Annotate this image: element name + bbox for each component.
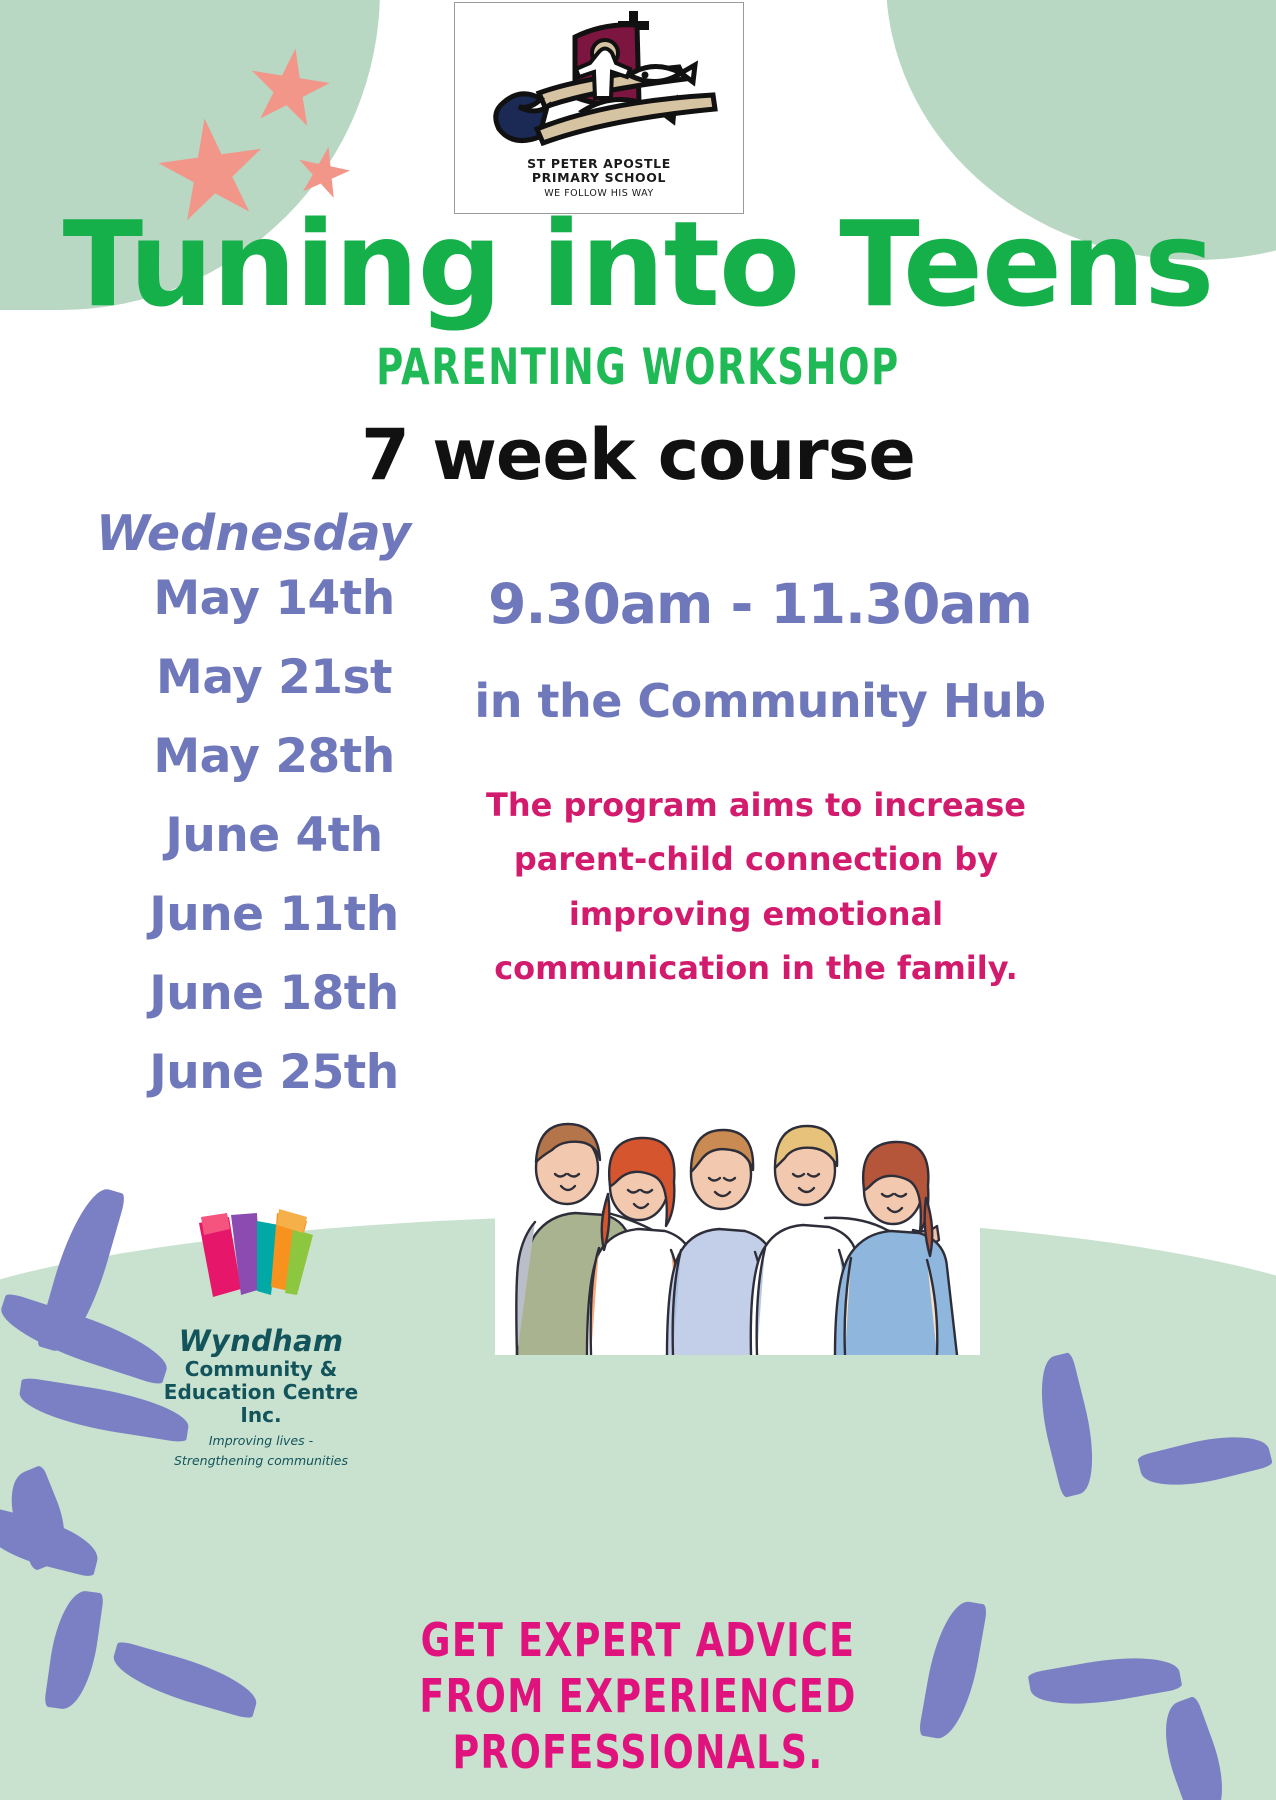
wyndham-partner-logo: Wyndham Community & Education Centre Inc…	[150, 1205, 372, 1468]
poster-canvas: ST PETER APOSTLE PRIMARY SCHOOL WE FOLLO…	[0, 0, 1276, 1800]
schedule-day-label: Wednesday	[78, 508, 470, 560]
group-of-five-people-hugging-illustration	[495, 1090, 980, 1355]
schedule-venue: in the Community Hub	[430, 674, 1090, 728]
list-item: June 4th	[78, 797, 470, 876]
page-title: Tuning into Teens	[0, 205, 1276, 323]
ship-and-fish-icon	[479, 7, 719, 157]
school-logo: ST PETER APOSTLE PRIMARY SCHOOL WE FOLLO…	[454, 2, 744, 214]
school-name-line2: PRIMARY SCHOOL	[455, 171, 743, 185]
course-duration: 7 week course	[0, 414, 1276, 496]
list-item: May 21st	[78, 639, 470, 718]
cta-line1: GET EXPERT ADVICE	[77, 1612, 1200, 1668]
cta-line2: FROM EXPERIENCED	[77, 1668, 1200, 1724]
list-item: June 18th	[78, 955, 470, 1034]
partner-name: Wyndham	[150, 1324, 372, 1358]
partner-line2: Education Centre Inc.	[150, 1381, 372, 1427]
partner-line1: Community &	[150, 1358, 372, 1381]
list-item: June 25th	[78, 1034, 470, 1113]
list-item: May 14th	[78, 560, 470, 639]
partner-tagline-line2: Strengthening communities	[150, 1453, 372, 1468]
school-name-line1: ST PETER APOSTLE	[455, 157, 743, 171]
schedule-dates-list: Wednesday May 14th May 21st May 28th Jun…	[78, 508, 470, 1113]
schedule-time: 9.30am - 11.30am	[430, 572, 1090, 636]
cta-line3: PROFESSIONALS.	[77, 1724, 1200, 1780]
wyndham-w-mark-icon	[191, 1205, 331, 1317]
list-item: June 11th	[78, 876, 470, 955]
program-description: The program aims to increase parent-chil…	[476, 778, 1036, 996]
call-to-action: GET EXPERT ADVICE FROM EXPERIENCED PROFE…	[0, 1612, 1276, 1780]
list-item: May 28th	[78, 718, 470, 797]
partner-tagline-line1: Improving lives -	[150, 1433, 372, 1448]
page-subtitle: PARENTING WORKSHOP	[115, 338, 1161, 396]
